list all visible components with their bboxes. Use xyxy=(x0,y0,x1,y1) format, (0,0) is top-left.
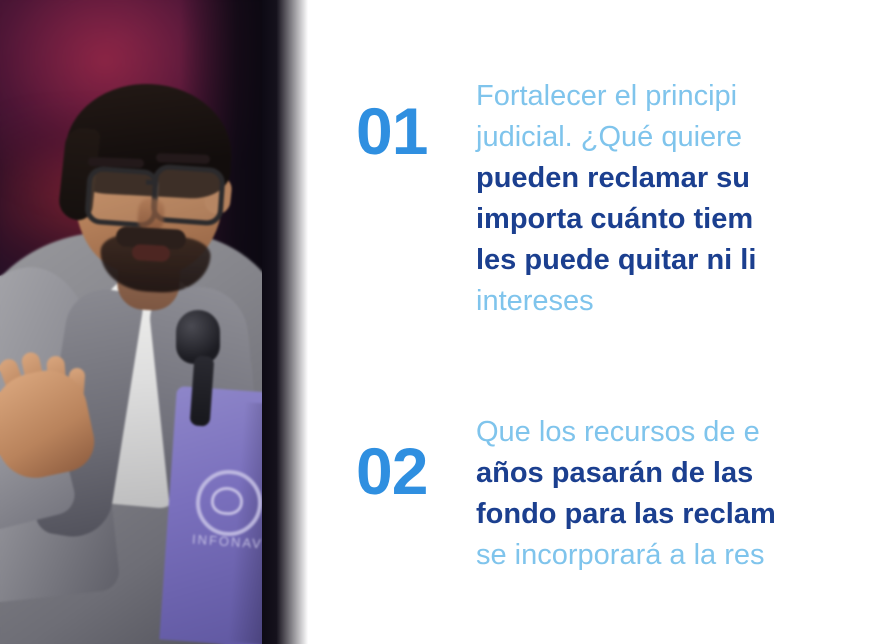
eyebrow-left xyxy=(88,157,144,168)
slide-line: intereses xyxy=(476,281,756,322)
mouth xyxy=(132,244,171,262)
slide-line: les puede quitar ni li xyxy=(476,240,756,281)
slide-item-2: 02 Que los recursos de e años pasarán de… xyxy=(310,390,882,610)
slide-line: importa cuánto tiem xyxy=(476,199,756,240)
speaker-photo: INFONAVIT xyxy=(0,0,310,644)
speaker-figure: INFONAVIT xyxy=(0,0,272,644)
slide-item-2-text: Que los recursos de e años pasarán de la… xyxy=(476,412,776,576)
slide-line: fondo para las reclam xyxy=(476,494,776,535)
slide-line: años pasarán de las xyxy=(476,453,776,494)
slide-line: pueden reclamar su xyxy=(476,158,756,199)
slide-item-2-number: 02 xyxy=(356,438,427,504)
slide-line: judicial. ¿Qué quiere xyxy=(476,117,756,158)
slide-item-1: 01 Fortalecer el principi judicial. ¿Qué… xyxy=(310,0,882,300)
photo-right-edge-fade xyxy=(262,0,310,644)
screenshot-root: INFONAVIT 01 Fortalecer el principi judi… xyxy=(0,0,882,644)
slide-item-1-number: 01 xyxy=(356,98,427,164)
slide-item-1-text: Fortalecer el principi judicial. ¿Qué qu… xyxy=(476,76,756,322)
presentation-slide: 01 Fortalecer el principi judicial. ¿Qué… xyxy=(310,0,882,644)
slide-line: se incorporará a la res xyxy=(476,535,776,576)
eyebrow-right xyxy=(156,153,210,164)
eyeglasses-bridge xyxy=(146,180,158,186)
slide-line: Que los recursos de e xyxy=(476,412,776,453)
slide-line: Fortalecer el principi xyxy=(476,76,756,117)
